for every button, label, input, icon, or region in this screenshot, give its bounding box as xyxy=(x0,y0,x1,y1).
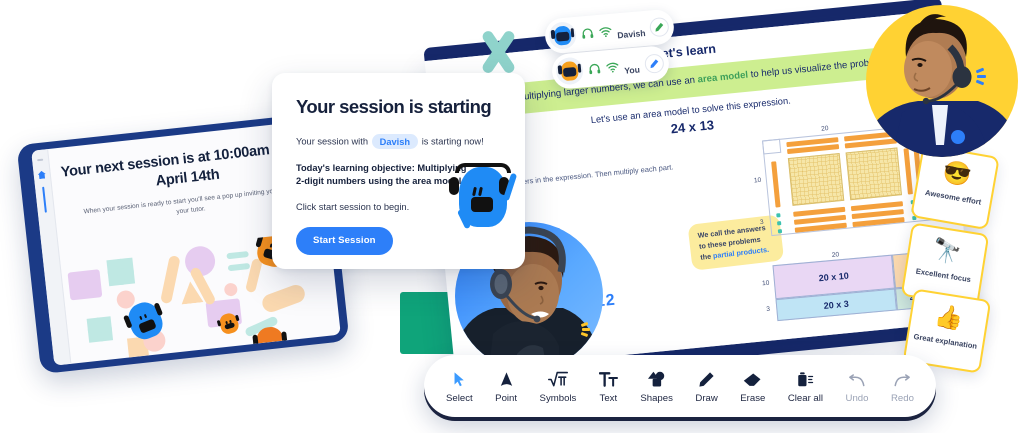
pen-icon[interactable] xyxy=(644,53,665,74)
banner-highlight: area model xyxy=(697,70,749,86)
mascot-blue-waving-icon xyxy=(447,157,519,235)
tool-label: Undo xyxy=(846,393,869,404)
participant-name: You xyxy=(624,64,640,75)
wifi-icon xyxy=(605,60,619,74)
tool-erase[interactable]: Erase xyxy=(740,368,765,404)
grid-label-side-top: 10 xyxy=(754,177,762,185)
tool-text[interactable]: Text xyxy=(599,368,618,404)
session-starting-modal: Your session is starting Your session wi… xyxy=(272,73,525,269)
sparkle-icon xyxy=(581,320,597,336)
ptable-label-side-bottom: 3 xyxy=(766,306,770,313)
active-indicator xyxy=(42,187,47,213)
modal-line-prefix: Your session with xyxy=(296,137,368,147)
tool-label: Shapes xyxy=(640,393,673,404)
modal-title: Your session is starting xyxy=(296,96,501,118)
tool-undo[interactable]: Undo xyxy=(846,368,869,404)
headphones-icon xyxy=(581,26,595,40)
badge-caption: Excellent focus xyxy=(906,265,981,286)
shapes-icon xyxy=(647,368,666,388)
redo-arrow-icon xyxy=(893,368,911,388)
wifi-icon xyxy=(598,25,612,39)
thumbs-up-icon: 👍 xyxy=(911,299,988,336)
tool-label: Erase xyxy=(740,393,765,404)
tutor-name-pill: Davish xyxy=(372,134,419,149)
avatar xyxy=(548,21,577,50)
sun-sunglasses-icon: 😎 xyxy=(919,154,996,192)
participant-name: Davish xyxy=(617,28,646,40)
pen-icon[interactable] xyxy=(649,17,670,38)
square-root-pi-icon xyxy=(548,368,568,388)
modal-line-suffix: is starting now! xyxy=(422,137,484,147)
trash-icon xyxy=(796,368,814,388)
ptable-label-side-top: 10 xyxy=(762,280,770,288)
menu-dot-icon xyxy=(37,159,43,162)
eraser-icon xyxy=(743,368,762,388)
tool-symbols[interactable]: Symbols xyxy=(540,368,577,404)
tool-label: Clear all xyxy=(788,393,823,404)
tool-shapes[interactable]: Shapes xyxy=(640,368,673,404)
sparkle-icon xyxy=(976,67,992,83)
undo-arrow-icon xyxy=(848,368,866,388)
text-tt-icon xyxy=(599,368,618,388)
mascot-orange-2-icon xyxy=(255,326,286,361)
modal-session-line: Your session with Davish is starting now… xyxy=(296,134,501,149)
grid-label-top-left: 20 xyxy=(821,125,829,133)
tool-label: Text xyxy=(600,393,618,404)
tool-label: Draw xyxy=(695,393,717,404)
home-icon[interactable] xyxy=(37,170,46,179)
pointer-triangle-icon xyxy=(498,368,515,388)
tool-label: Redo xyxy=(891,393,914,404)
tool-point[interactable]: Point xyxy=(495,368,517,404)
tool-label: Select xyxy=(446,393,473,404)
tool-draw[interactable]: Draw xyxy=(695,368,717,404)
ptable-label-top-left: 20 xyxy=(832,251,840,259)
avatar xyxy=(555,56,584,85)
tool-redo[interactable]: Redo xyxy=(891,368,914,404)
mascot-small-orange-icon xyxy=(218,311,241,335)
learning-objective: Today's learning objective: Multiplying … xyxy=(296,162,468,189)
pencil-icon xyxy=(698,368,715,388)
tool-label: Point xyxy=(495,393,517,404)
tool-clear-all[interactable]: Clear all xyxy=(788,368,823,404)
tutor-video-circle[interactable] xyxy=(866,5,1018,157)
badge-caption: Great explanation xyxy=(908,331,983,352)
grid-label-side-bottom: 3 xyxy=(760,219,764,226)
x-doodle-icon xyxy=(476,30,522,76)
tool-select[interactable]: Select xyxy=(446,368,473,404)
start-session-button[interactable]: Start Session xyxy=(296,227,393,255)
tutor-video-feed xyxy=(866,5,1018,157)
tool-label: Symbols xyxy=(540,393,577,404)
headphones-icon xyxy=(588,62,602,76)
binoculars-icon: 🔭 xyxy=(909,233,986,270)
cursor-arrow-icon xyxy=(451,368,468,388)
drawing-toolbar: Select Point Symbols Text Shapes xyxy=(424,355,936,417)
screenshot-root: Your next session is at 10:00am Weds Apr… xyxy=(0,0,1024,433)
